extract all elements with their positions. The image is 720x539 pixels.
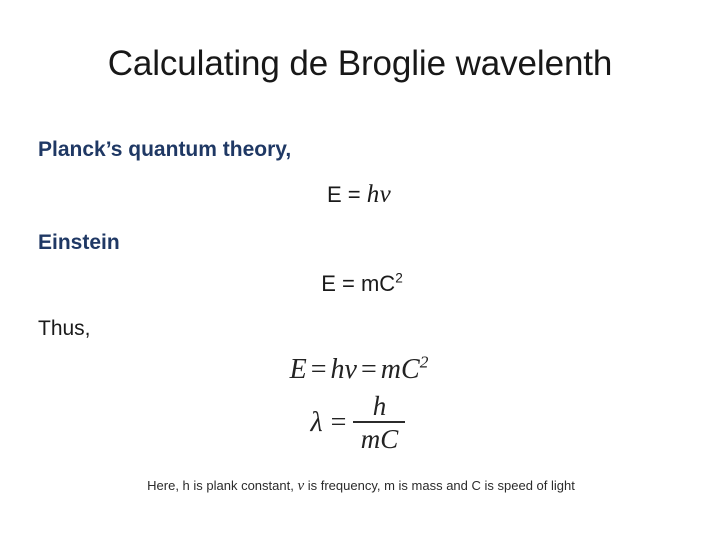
equation-combined-c: C <box>401 354 420 385</box>
slide-canvas: Calculating de Broglie wavelenth Planck’… <box>0 0 720 539</box>
heading-einstein: Einstein <box>38 231 120 255</box>
equation-einstein: E = mC2 <box>0 271 720 297</box>
footnote-part1: Here, h is plank constant, <box>147 478 297 493</box>
equation-wavelength-equals: = <box>323 409 354 437</box>
equation-combined-nu: ν <box>345 354 357 385</box>
fraction-h-over-mc: h mC <box>353 392 405 454</box>
equation-combined-exponent: 2 <box>420 353 429 372</box>
fraction-denominator: mC <box>357 423 403 454</box>
footnote-part2: is frequency, m is mass and C is speed o… <box>304 478 575 493</box>
footnote-nu: ν <box>297 478 304 494</box>
equation-planck-lhs: E = <box>327 182 361 207</box>
equation-combined-e: E <box>290 354 307 385</box>
equation-combined-h: h <box>331 354 345 385</box>
equation-planck: E = hν <box>0 181 720 209</box>
page-title: Calculating de Broglie wavelenth <box>0 44 720 84</box>
equation-einstein-lhs: E = mC <box>321 271 395 296</box>
equation-combined-equals-2: = <box>357 354 381 385</box>
equation-combined-equals-1: = <box>307 354 331 385</box>
fraction-numerator: h <box>367 392 393 421</box>
equation-combined-m: m <box>381 354 401 385</box>
footnote: Here, h is plank constant, ν is frequenc… <box>0 478 720 495</box>
heading-thus: Thus, <box>38 317 91 341</box>
heading-planck: Planck’s quantum theory, <box>38 138 291 162</box>
equation-planck-h: h <box>367 181 380 208</box>
equation-einstein-exponent: 2 <box>395 271 403 286</box>
equation-wavelength-lambda: λ <box>311 409 323 437</box>
equation-planck-nu: ν <box>380 181 391 208</box>
equation-combined: E=hν=mC2 <box>0 354 720 386</box>
equation-wavelength: λ = h mC <box>0 392 720 454</box>
